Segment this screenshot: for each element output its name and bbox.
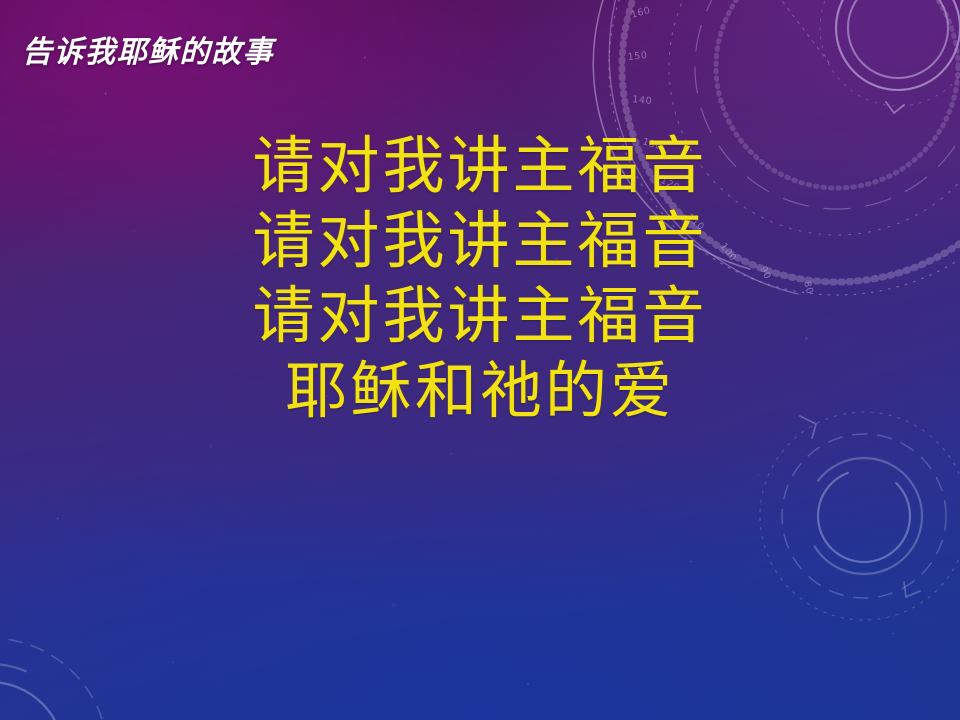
lyric-block: 请对我讲主福音 请对我讲主福音 请对我讲主福音 耶稣和祂的爱 — [0, 128, 960, 428]
slide-title: 告诉我耶稣的故事 — [22, 35, 274, 70]
lyric-line: 耶稣和祂的爱 — [40, 353, 920, 428]
svg-text:140: 140 — [632, 94, 653, 107]
presentation-slide: 210 200 190 180 170 160 150 140 130 120 … — [0, 0, 960, 720]
corner-arc-ring-decoration — [0, 598, 162, 720]
dashed-ring-decoration — [756, 396, 960, 644]
lyric-line: 请对我讲主福音 — [40, 128, 920, 203]
svg-text:150: 150 — [627, 50, 648, 63]
lyric-line: 请对我讲主福音 — [40, 278, 920, 353]
lyric-line: 请对我讲主福音 — [40, 203, 920, 278]
svg-text:160: 160 — [630, 5, 652, 21]
